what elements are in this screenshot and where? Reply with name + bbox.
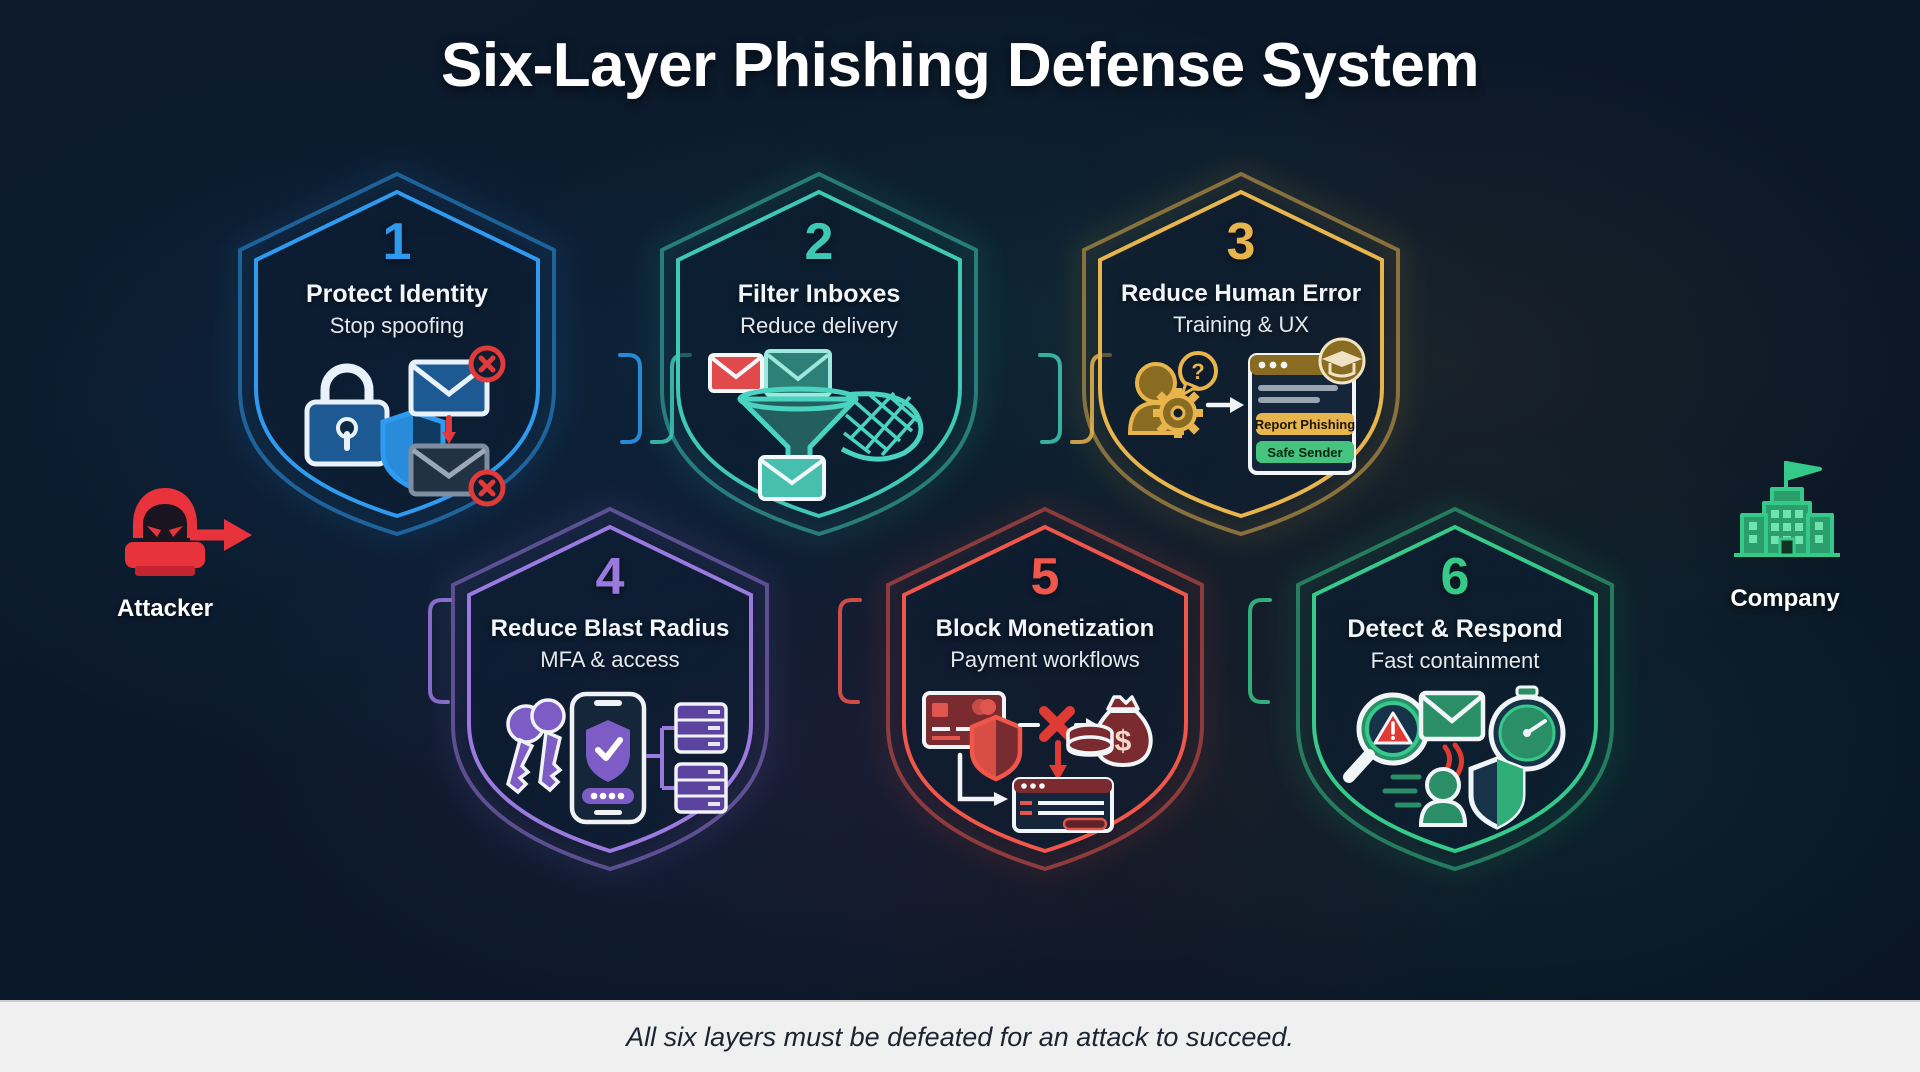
layer-number: 2 — [680, 216, 958, 268]
blocked-email-icon — [411, 446, 503, 504]
keys-icon — [508, 700, 564, 792]
infographic-canvas: Six-Layer Phishing Defense System Attack… — [0, 0, 1920, 1072]
phone-mfa-icon — [572, 694, 644, 822]
layer-subtitle: Stop spoofing — [258, 313, 536, 339]
layer-title: Block Monetization — [906, 615, 1184, 643]
user-shield-icon — [1385, 759, 1523, 827]
layer-card-3[interactable]: 3 Reduce Human Error Training & UX ? — [1076, 168, 1406, 540]
server-rack-icon — [676, 764, 726, 812]
arrow-right-icon — [1208, 397, 1244, 413]
layer-card-1[interactable]: 1 Protect Identity Stop spoofing — [232, 168, 562, 540]
footer-note: All six layers must be defeated for an a… — [626, 1022, 1294, 1053]
layer-title: Protect Identity — [258, 280, 536, 309]
stopwatch-icon — [1491, 687, 1563, 769]
approval-form-icon — [1014, 779, 1112, 831]
blocked-email-icon — [411, 348, 503, 414]
layer-icon-group-1 — [232, 340, 562, 505]
layer-icon-group-5: $ — [880, 675, 1210, 840]
footer-bar: All six layers must be defeated for an a… — [0, 1000, 1920, 1072]
rejected-email-icon — [710, 355, 762, 391]
layer-card-4[interactable]: 4 Reduce Blast Radius MFA & access — [445, 503, 775, 875]
layer-subtitle: Payment workflows — [906, 647, 1184, 673]
layer-card-5[interactable]: 5 Block Monetization Payment workflows — [880, 503, 1210, 875]
graduation-cap-icon — [1320, 339, 1364, 383]
arrow-down-icon — [1049, 743, 1067, 781]
coins-icon — [1068, 725, 1112, 755]
svg-text:$: $ — [1115, 725, 1132, 758]
layer-card-2[interactable]: 2 Filter Inboxes Reduce delivery — [654, 168, 984, 540]
block-x-icon — [1044, 711, 1070, 737]
shield-icon — [972, 717, 1020, 779]
layer-number: 3 — [1102, 216, 1380, 268]
layer-number: 1 — [258, 216, 536, 268]
report-phishing-button: Report Phishing — [1255, 413, 1355, 435]
report-phishing-label: Report Phishing — [1255, 417, 1355, 432]
layer-title: Detect & Respond — [1316, 615, 1594, 644]
svg-text:?: ? — [1191, 359, 1204, 384]
layer-number: 5 — [906, 551, 1184, 603]
layer-subtitle: MFA & access — [471, 647, 749, 673]
net-icon — [842, 393, 921, 459]
gear-icon — [1153, 388, 1203, 438]
server-rack-icon — [676, 704, 726, 752]
layer-number: 6 — [1316, 551, 1594, 603]
layer-icon-group-6 — [1290, 675, 1620, 840]
padlock-icon — [307, 368, 387, 464]
layer-title: Reduce Blast Radius — [471, 615, 749, 643]
layer-icon-group-4 — [445, 675, 775, 840]
email-alert-icon — [1421, 693, 1483, 775]
layer-icon-group-2 — [654, 340, 984, 505]
delivered-email-icon — [760, 457, 824, 499]
layer-icon-group-3: ? — [1076, 334, 1406, 499]
magnifier-alert-icon — [1349, 695, 1427, 777]
question-bubble-icon: ? — [1180, 353, 1216, 395]
safe-sender-label: Safe Sender — [1267, 445, 1342, 460]
layer-card-6[interactable]: 6 Detect & Respond Fast containment — [1290, 503, 1620, 875]
layer-number: 4 — [471, 551, 749, 603]
layer-subtitle: Reduce delivery — [680, 313, 958, 339]
safe-sender-button: Safe Sender — [1256, 441, 1354, 463]
layer-title: Reduce Human Error — [1102, 280, 1380, 308]
layer-subtitle: Fast containment — [1316, 648, 1594, 674]
layer-title: Filter Inboxes — [680, 280, 958, 309]
